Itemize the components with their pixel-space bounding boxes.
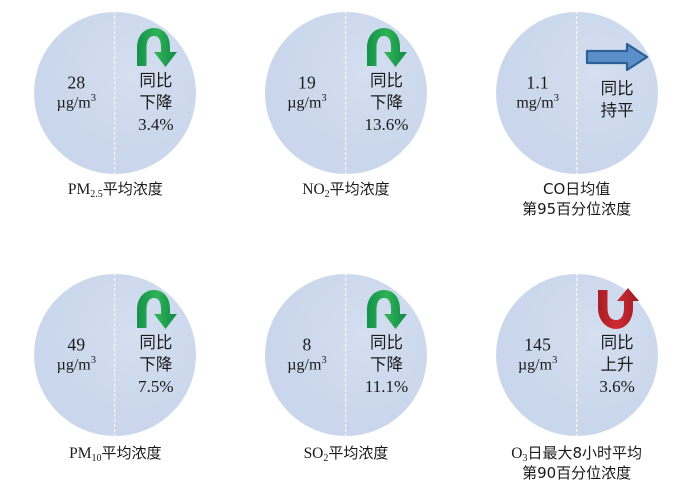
caption-main: PM — [69, 445, 91, 462]
trend-line-2: 下降 — [365, 354, 408, 376]
caption-subscript: 2 — [323, 453, 328, 464]
caption-rest: 平均浓度 — [328, 444, 388, 462]
unit-text: mg/m — [516, 95, 553, 112]
unit-exponent: 3 — [321, 94, 326, 105]
metric-unit: µg/m3 — [38, 356, 114, 376]
trend-line-1: 同比 — [138, 70, 173, 92]
arrow-down-curved-icon — [134, 25, 178, 69]
panel-caption: CO日均值 第95百分位浓度 — [461, 180, 692, 220]
metric-value: 28 — [38, 73, 114, 94]
trend-text: 同比 下降 3.4% — [138, 70, 173, 136]
value-block: 1.1 mg/m3 — [500, 73, 576, 114]
trend-block: 同比 上升 3.6% — [577, 274, 658, 436]
trend-line-2: 下降 — [365, 92, 409, 114]
metric-unit: mg/m3 — [500, 94, 576, 114]
metric-panel-pm25: 28 µg/m3 — [0, 0, 231, 250]
caption-subscript: 10 — [92, 453, 102, 464]
trend-text: 同比 持平 — [601, 78, 634, 122]
caption-line-2: 第95百分位浓度 — [522, 200, 631, 218]
trend-percent: 3.6% — [599, 376, 634, 398]
trend-percent: 3.4% — [138, 114, 173, 136]
trend-text: 同比 下降 7.5% — [138, 332, 173, 398]
arrow-up-curved-icon — [595, 287, 639, 331]
trend-percent: 13.6% — [365, 114, 409, 136]
trend-line-1: 同比 — [599, 332, 634, 354]
trend-percent: 7.5% — [138, 376, 173, 398]
metric-panel-pm10: 49 µg/m3 — [0, 250, 231, 475]
metric-unit: µg/m3 — [500, 356, 576, 376]
trend-block: 同比 持平 — [577, 12, 658, 174]
caption-rest: 平均浓度 — [102, 444, 162, 462]
trend-text: 同比 下降 11.1% — [365, 332, 408, 398]
value-block: 8 µg/m3 — [269, 335, 345, 376]
metric-circle: 8 µg/m3 — [265, 274, 427, 436]
metric-value: 8 — [269, 335, 345, 356]
metric-panel-no2: 19 µg/m3 — [231, 0, 462, 250]
caption-main: PM — [68, 181, 90, 198]
metric-unit: µg/m3 — [269, 356, 345, 376]
unit-exponent: 3 — [91, 94, 96, 105]
trend-line-1: 同比 — [365, 332, 408, 354]
trend-block: 同比 下降 13.6% — [346, 12, 427, 174]
panel-caption: PM10平均浓度 — [0, 444, 231, 464]
caption-main: CO日均值 — [543, 180, 610, 198]
unit-exponent: 3 — [552, 356, 557, 367]
metric-circle: 28 µg/m3 — [34, 12, 196, 174]
caption-rest: 平均浓度 — [103, 180, 163, 198]
value-block: 28 µg/m3 — [38, 73, 114, 114]
trend-block: 同比 下降 3.4% — [115, 12, 196, 174]
value-block: 19 µg/m3 — [269, 73, 345, 114]
arrow-down-curved-icon — [364, 25, 408, 69]
unit-text: µg/m — [57, 95, 91, 112]
trend-text: 同比 下降 13.6% — [365, 70, 409, 136]
trend-line-1: 同比 — [138, 332, 173, 354]
trend-block: 同比 下降 11.1% — [346, 274, 427, 436]
caption-rest: 日最大8小时平均 — [527, 444, 642, 462]
value-block: 49 µg/m3 — [38, 335, 114, 376]
trend-block: 同比 下降 7.5% — [115, 274, 196, 436]
metric-unit: µg/m3 — [38, 94, 114, 114]
caption-subscript: 3 — [522, 453, 527, 464]
metric-circle: 19 µg/m3 — [265, 12, 427, 174]
metric-value: 1.1 — [500, 73, 576, 94]
metric-value: 19 — [269, 73, 345, 94]
trend-line-2: 下降 — [138, 354, 173, 376]
trend-line-1: 同比 — [601, 78, 634, 100]
unit-exponent: 3 — [554, 94, 559, 105]
caption-main: SO — [304, 445, 324, 462]
caption-subscript: 2 — [325, 189, 330, 200]
caption-rest: 平均浓度 — [330, 180, 390, 198]
caption-main: NO — [302, 181, 324, 198]
metric-panel-co: 1.1 mg/m3 同比 持平 CO日均值 第95百分位浓度 — [461, 0, 692, 250]
metric-value: 49 — [38, 335, 114, 356]
panel-caption: SO2平均浓度 — [231, 444, 462, 464]
metric-panel-o3: 145 µg/m3 — [461, 250, 692, 475]
trend-line-1: 同比 — [365, 70, 409, 92]
trend-line-2: 下降 — [138, 92, 173, 114]
caption-line-2: 第90百分位浓度 — [522, 464, 631, 482]
trend-percent: 11.1% — [365, 376, 408, 398]
unit-exponent: 3 — [321, 356, 326, 367]
metric-unit: µg/m3 — [269, 94, 345, 114]
panel-caption: O3日最大8小时平均 第90百分位浓度 — [461, 444, 692, 484]
unit-text: µg/m — [287, 95, 321, 112]
metric-value: 145 — [500, 335, 576, 356]
metric-circle: 49 µg/m3 — [34, 274, 196, 436]
unit-text: µg/m — [287, 357, 321, 374]
metric-panel-so2: 8 µg/m3 — [231, 250, 462, 475]
metric-circle: 145 µg/m3 — [496, 274, 658, 436]
caption-main: O — [511, 445, 522, 462]
value-block: 145 µg/m3 — [500, 335, 576, 376]
unit-text: µg/m — [57, 357, 91, 374]
unit-text: µg/m — [518, 357, 552, 374]
panel-caption: PM2.5平均浓度 — [0, 180, 231, 200]
trend-line-2: 持平 — [601, 100, 634, 122]
arrow-right-flat-icon — [585, 40, 649, 74]
trend-text: 同比 上升 3.6% — [599, 332, 634, 398]
trend-line-2: 上升 — [599, 354, 634, 376]
arrow-down-curved-icon — [364, 287, 408, 331]
metric-circle: 1.1 mg/m3 同比 持平 — [496, 12, 658, 174]
caption-subscript: 2.5 — [90, 189, 103, 200]
panel-caption: NO2平均浓度 — [231, 180, 462, 200]
unit-exponent: 3 — [91, 356, 96, 367]
metric-panel-grid: 28 µg/m3 — [0, 0, 692, 475]
arrow-down-curved-icon — [134, 287, 178, 331]
